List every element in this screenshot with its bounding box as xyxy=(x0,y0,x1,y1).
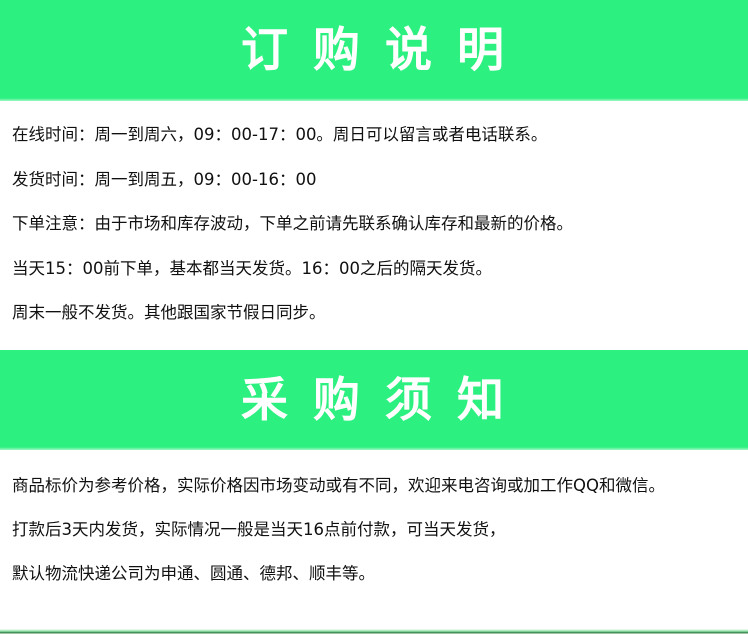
order-instructions-text-block: 在线时间：周一到周六，09：00-17：00。周日可以留言或者电话联系。 发货时… xyxy=(12,113,736,336)
order-instructions-line-1: 在线时间：周一到周六，09：00-17：00。周日可以留言或者电话联系。 xyxy=(12,113,736,158)
purchase-notice-line-1: 商品标价为参考价格，实际价格因市场变动或有不同，欢迎来电咨询或加工作QQ和微信。 xyxy=(12,464,736,508)
order-instructions-line-2: 发货时间：周一到周五，09：00-16：00 xyxy=(12,158,736,203)
purchase-notice-text-block: 商品标价为参考价格，实际价格因市场变动或有不同，欢迎来电咨询或加工作QQ和微信。… xyxy=(12,464,736,596)
banner-title-order-instructions: 订购说明 xyxy=(241,27,529,74)
purchase-notice-line-3: 默认物流快递公司为申通、圆通、德邦、顺丰等。 xyxy=(12,552,736,596)
product-detail-page: 订购说明 在线时间：周一到周六，09：00-17：00。周日可以留言或者电话联系… xyxy=(0,0,748,634)
order-instructions-line-5: 周末一般不发货。其他跟国家节假日同步。 xyxy=(12,291,736,336)
order-instructions-line-4: 当天15：00前下单，基本都当天发货。16：00之后的隔天发货。 xyxy=(12,247,736,292)
banner-title-purchase-notice: 采购须知 xyxy=(241,377,529,424)
banner-purchase-notice: 采购须知 xyxy=(0,350,748,450)
bottom-divider-strip xyxy=(0,629,748,634)
banner-order-instructions: 订购说明 xyxy=(0,0,748,101)
order-instructions-line-3: 下单注意：由于市场和库存波动，下单之前请先联系确认库存和最新的价格。 xyxy=(12,202,736,247)
purchase-notice-line-2: 打款后3天内发货，实际情况一般是当天16点前付款，可当天发货， xyxy=(12,508,736,552)
